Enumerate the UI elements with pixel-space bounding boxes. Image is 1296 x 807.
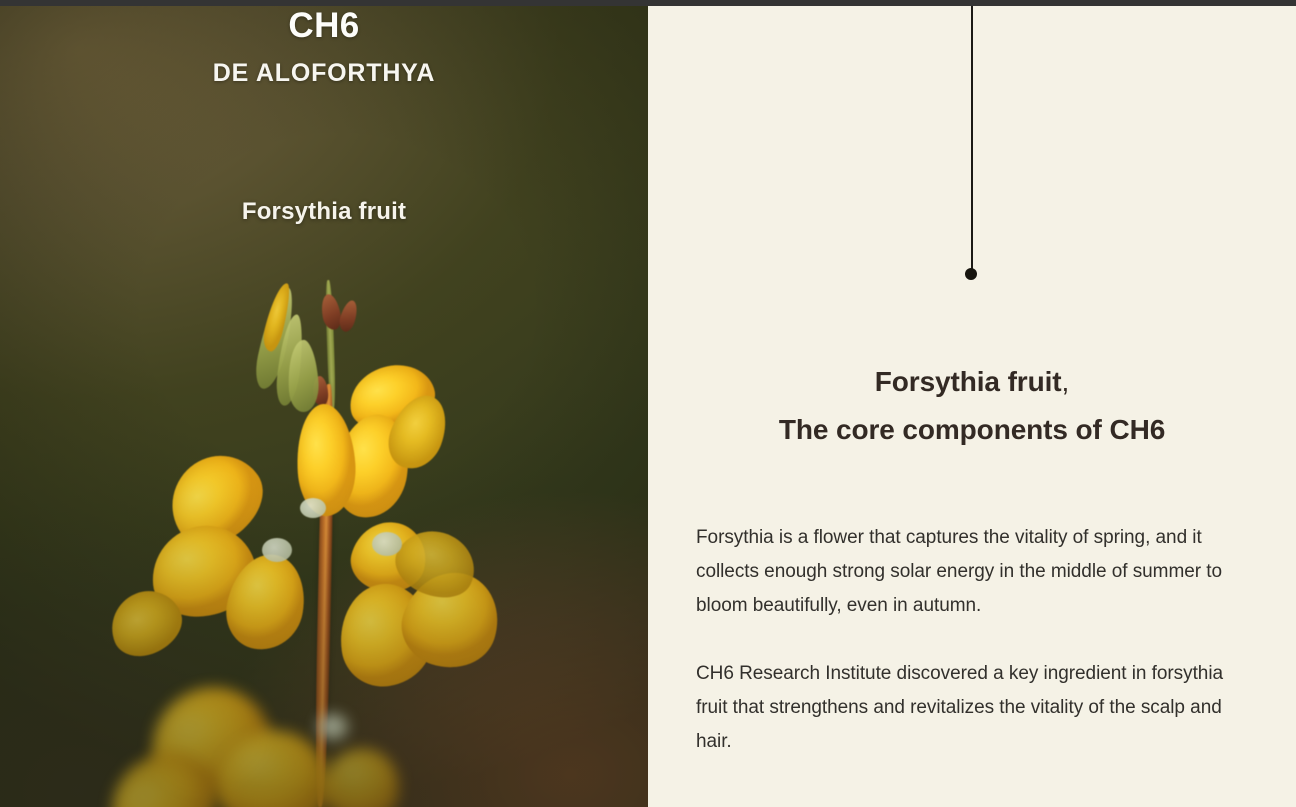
decorative-dot [965, 268, 977, 280]
body-paragraph-1: Forsythia is a flower that captures the … [696, 521, 1248, 622]
section-headline: Forsythia fruit, The core components of … [648, 358, 1296, 454]
body-paragraph-2: CH6 Research Institute discovered a key … [696, 657, 1248, 758]
headline-line-1: Forsythia fruit, [648, 358, 1296, 406]
brand-title: CH6 [0, 7, 648, 46]
headline-comma: , [1062, 366, 1070, 397]
decorative-vertical-line [971, 0, 973, 274]
background-vignette [0, 0, 648, 807]
right-content-panel: Forsythia fruit, The core components of … [648, 0, 1296, 807]
left-image-panel: CH6 DE ALOFORTHYA Forsythia fruit [0, 0, 648, 807]
product-ingredient-page: CH6 DE ALOFORTHYA Forsythia fruit Forsyt… [0, 0, 1296, 807]
brand-subtitle: DE ALOFORTHYA [0, 59, 648, 88]
image-caption: Forsythia fruit [0, 198, 648, 226]
left-panel-text: CH6 DE ALOFORTHYA [0, 0, 648, 88]
headline-line-2: The core components of CH6 [648, 406, 1296, 454]
top-strip [0, 0, 1296, 6]
headline-line-1-text: Forsythia fruit [875, 366, 1062, 397]
